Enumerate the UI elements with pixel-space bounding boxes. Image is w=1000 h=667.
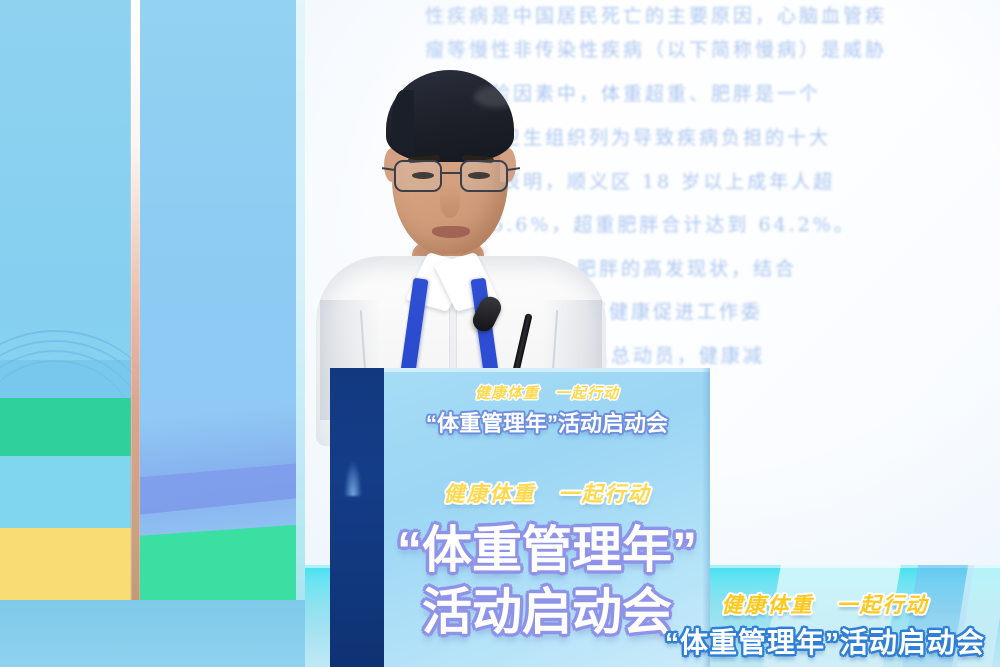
- hair: [386, 70, 514, 162]
- podium-top-slogan: 健康体重 一起行动: [384, 382, 710, 403]
- nose: [440, 184, 460, 218]
- podium-main-banner: 健康体重 一起行动 “体重管理年” 活动启动会: [384, 478, 710, 640]
- photo-scene: 性疾病是中国居民死亡的主要原因，心脑血管疾 瘤等慢性非传染性疾病（以下简称慢病）…: [0, 0, 1000, 667]
- backdrop-panel-left: [0, 0, 131, 667]
- podium-top-banner: 健康体重 一起行动 “体重管理年”活动启动会: [384, 382, 710, 438]
- podium-side-panel: [330, 368, 384, 667]
- podium-top-title: “体重管理年”活动启动会: [384, 406, 710, 438]
- hair-highlight: [474, 86, 520, 108]
- lens-left: [394, 160, 442, 192]
- podium-main-title-line1: “体重管理年”: [384, 522, 710, 578]
- podium-top-edge: [384, 368, 710, 372]
- color-band-lightblue: [0, 456, 131, 528]
- backdrop-panel-middle: [140, 0, 305, 667]
- podium: 健康体重 一起行动 “体重管理年”活动启动会 健康体重 一起行动 “体重管理年”…: [330, 368, 710, 667]
- floor-left: [0, 600, 322, 667]
- panel-seam-highlight: [131, 0, 140, 667]
- lens-right: [460, 160, 508, 192]
- speaker-figure: [316, 60, 606, 390]
- glasses-bridge: [442, 172, 460, 174]
- podium-main-title-line2: 活动启动会: [384, 584, 710, 640]
- podium-main-slogan: 健康体重 一起行动: [384, 478, 710, 508]
- color-band-green: [0, 398, 131, 456]
- mouth: [432, 226, 470, 238]
- color-band-blue: [0, 360, 131, 398]
- podium-light-glint: [344, 460, 362, 496]
- floor-diagonal-1: [763, 565, 901, 667]
